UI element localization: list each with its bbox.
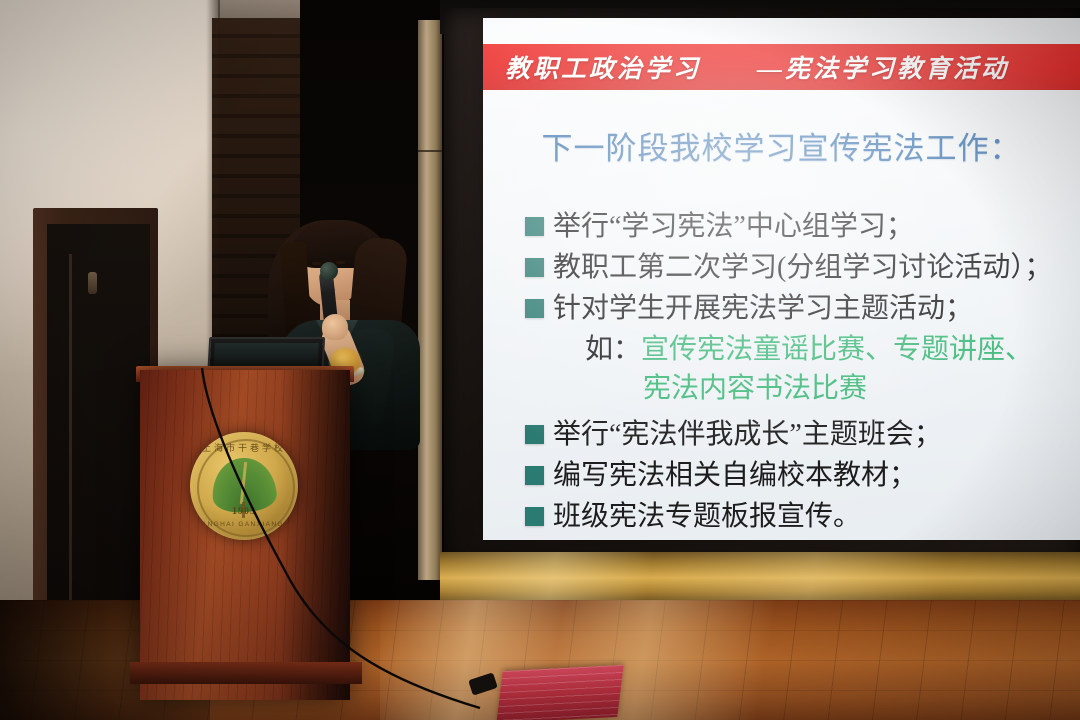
red-stack-layers	[496, 665, 623, 720]
square-bullet-icon	[525, 217, 544, 236]
presenter-eye-left	[312, 262, 321, 265]
pillar-seam	[418, 150, 442, 152]
red-material-stack	[496, 665, 623, 720]
square-bullet-icon	[525, 299, 544, 318]
slide-bullet-item: 教职工第二次学习(分组学习讨论活动）；	[525, 249, 1072, 287]
slide-bullet-text: 举行“宪法伴我成长”主题班会；	[553, 416, 942, 454]
slide-subnote-line-1: 如： 宣传宪法童谣比赛、专题讲座、	[525, 331, 1072, 369]
slide-bullet-text: 编写宪法相关自编校本教材；	[553, 457, 917, 495]
square-bullet-icon	[525, 425, 544, 444]
slide-bullet-text: 班级宪法专题板报宣传。	[553, 498, 861, 536]
slide-title: 下一阶段我校学习宣传宪法工作：	[483, 123, 1080, 168]
slide-bullet-item: 编写宪法相关自编校本教材；	[525, 457, 1072, 495]
slide-bullet-item: 举行“学习宪法”中心组学习；	[525, 208, 1072, 246]
presentation-photo-scene: 教职工政治学习 —宪法学习教育活动 下一阶段我校学习宣传宪法工作： 举行“学习宪…	[0, 0, 1080, 720]
door-handle	[88, 272, 97, 294]
slide-bullet-item: 举行“宪法伴我成长”主题班会；	[525, 416, 1072, 454]
slide-bullet-text: 针对学生开展宪法学习主题活动；	[553, 290, 973, 328]
slide-bullet-item: 针对学生开展宪法学习主题活动；	[525, 290, 1072, 328]
square-bullet-icon	[525, 258, 544, 277]
door-panel	[47, 224, 150, 628]
slide-bullet-item: 班级宪法专题板报宣传。	[525, 498, 1072, 536]
slide-bullet-text: 举行“学习宪法”中心组学习；	[553, 208, 914, 246]
slide-banner: 教职工政治学习 —宪法学习教育活动	[483, 44, 1080, 90]
podium-base	[130, 662, 362, 684]
slide-bullet-text: 教职工第二次学习(分组学习讨论活动）；	[553, 249, 1052, 287]
square-bullet-icon	[525, 466, 544, 485]
door-molding	[69, 254, 72, 618]
slide-bullet-list: 举行“学习宪法”中心组学习； 教职工第二次学习(分组学习讨论活动）； 针对学生开…	[525, 208, 1072, 539]
school-emblem: 上海市干巷学校 1905 SHANGHAI GANXIANG SCHOOL	[190, 432, 298, 540]
slide-subnote-line-2: 宪法内容书法比赛	[525, 370, 1072, 408]
presenter-hand	[322, 314, 348, 340]
presenter-eye-right	[336, 261, 345, 264]
emblem-founding-year: 1905	[190, 506, 298, 517]
slide-subnote-highlight: 宣传宪法童谣比赛、专题讲座、	[641, 331, 1033, 369]
emblem-school-name-en: SHANGHAI GANXIANG SCHOOL	[190, 521, 298, 528]
projected-slide: 教职工政治学习 —宪法学习教育活动 下一阶段我校学习宣传宪法工作： 举行“学习宪…	[483, 18, 1080, 540]
podium-shading	[280, 370, 350, 700]
emblem-school-name-cn: 上海市干巷学校	[190, 441, 298, 454]
square-bullet-icon	[525, 507, 544, 526]
slide-banner-text: 教职工政治学习 —宪法学习教育活动	[483, 49, 1009, 85]
slide-subnote-label: 如：	[585, 331, 641, 369]
